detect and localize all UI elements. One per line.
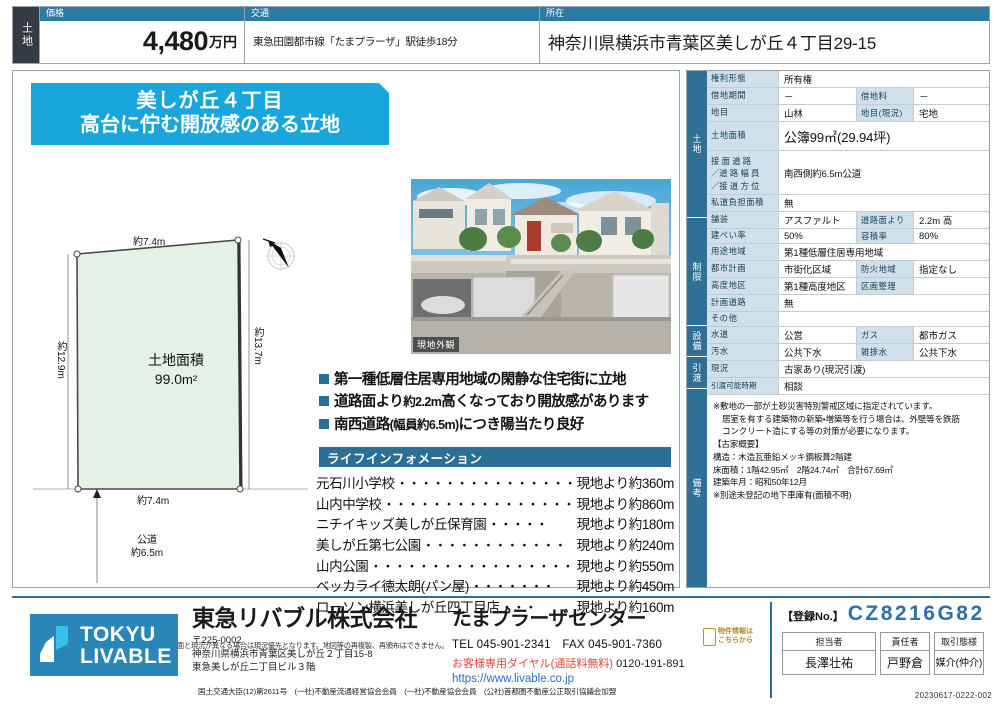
address-column: 所在 神奈川県横浜市青葉区美しが丘４丁目29-15: [539, 7, 989, 63]
spec-key-2: 防火地域: [856, 261, 914, 277]
staff-header: 取引態様: [935, 633, 983, 651]
land-plot-diagram: 約7.4m 約7.4m 約12.9m 約13.7m 土地面積 99.0m² 公道…: [33, 231, 313, 631]
life-info-distance: 現地より約180m: [577, 515, 674, 536]
life-info-dots: ・・・・・・・・・・・・・・・・・・・: [369, 557, 575, 577]
spec-key: 現況: [707, 361, 779, 377]
company-postal: 〒225-0002: [192, 634, 417, 647]
life-info-distance: 現地より約360m: [577, 474, 674, 495]
spec-key: 高度地区: [707, 278, 779, 294]
mobile-info-line-2: こちらから: [718, 637, 753, 646]
spec-key-2: 道路面より: [856, 212, 914, 228]
spec-key-2: 地目(現況): [856, 105, 914, 121]
life-info-distance: 現地より約450m: [577, 577, 674, 598]
spec-row-lease-period: 借地期間 － 借地料 －: [707, 88, 989, 105]
remark-line: 居室を有する建築物の新築・増築等を行う場合は、外壁等を鉄筋: [713, 413, 960, 426]
staff-header: 責任者: [881, 633, 929, 651]
spec-key-2: ガス: [856, 327, 914, 343]
feature-bullet: 第一種低層住居専用地域の閑静な住宅街に立地: [319, 369, 671, 391]
remark-line: ※別途未登記の地下車庫有(面積不明): [713, 489, 960, 502]
price-column: 価格 4,480 万円: [39, 7, 244, 63]
registration-box: 【登録No.】 CZ8216G82 担当者 長澤壮祐 責任者 戸野倉 取引態様 …: [770, 602, 988, 698]
spec-value-2: 公共下水: [914, 344, 989, 360]
public-road-width: 約6.5m: [117, 544, 177, 559]
spec-category-remarks: 備考: [687, 389, 707, 587]
life-info-item: ニチイキッズ美しが丘保育園 ・・・・・ 現地より約180m: [316, 515, 674, 536]
price-unit: 万円: [209, 32, 237, 52]
spec-category-delivery: 引渡: [687, 357, 707, 389]
document-id: 20230617-0222-002: [915, 691, 992, 700]
mobile-info-callout: 物件情報は こちらから: [703, 628, 753, 646]
life-info-name: 山内公園: [316, 557, 368, 578]
feature-bullet: 南西道路(幅員約6.5m)につき陽当たり良好: [319, 414, 671, 436]
staff-header: 担当者: [783, 633, 875, 651]
traffic-value: 東急田園都市線「たまプラーザ」駅徒歩18分: [245, 21, 539, 63]
spec-key: 用途地域: [707, 244, 779, 260]
spec-key: 土地面積: [707, 122, 779, 150]
spec-row-land-area: 土地面積 公簿99㎡(29.94坪): [707, 122, 989, 151]
registration-label: 【登録No.】: [782, 608, 844, 624]
bullet-square-icon: [319, 374, 329, 384]
plot-right-height-label: 約13.7m: [250, 327, 265, 365]
spec-key: 引渡可能時期: [707, 378, 779, 394]
spec-row-remarks: ※敷地の一部が土砂災害特別警戒区域に指定されています。 居室を有する建築物の新築…: [707, 395, 989, 587]
spec-row-delivery-date: 引渡可能時期 相談: [707, 378, 989, 395]
tokyu-livable-logo: TOKYU LIVABLE: [30, 614, 178, 676]
address-value: 神奈川県横浜市青葉区美しが丘４丁目29-15: [540, 21, 989, 63]
remark-line: 建築年月：昭和50年12月: [713, 476, 960, 489]
company-block: 東急リバブル株式会社 〒225-0002 神奈川県横浜市青葉区美しが丘２丁目15…: [192, 606, 417, 675]
staff-cell-manager: 責任者 戸野倉: [880, 632, 930, 675]
life-info-item: 山内公園 ・・・・・・・・・・・・・・・・・・・ 現地より約550m: [316, 557, 674, 578]
spec-row-sewage: 汚水 公共下水 雑排水 公共下水: [707, 344, 989, 361]
feature-bullet-list: 第一種低層住居専用地域の閑静な住宅街に立地 道路面より約2.2m高くなっており開…: [319, 369, 671, 436]
life-info-name: ニチイキッズ美しが丘保育園: [316, 515, 486, 536]
mobile-info-line-1: 物件情報は: [718, 628, 753, 637]
spec-rows: 権利形態 所有権 借地期間 － 借地料 － 地目 山林 地目(現況) 宅地 土地…: [707, 71, 989, 587]
bullet-square-icon: [319, 396, 329, 406]
staff-table: 担当者 長澤壮祐 責任者 戸野倉 取引態様 媒介(仲介): [782, 632, 988, 675]
company-address-line-1: 神奈川県横浜市青葉区美しが丘２丁目15-8: [192, 648, 417, 661]
website-url[interactable]: https://www.livable.co.jp: [452, 673, 685, 685]
spec-row-city-planning: 都市計画 市街化区域 防火地域 指定なし: [707, 261, 989, 278]
plot-area-value-wrap: 99.0m²: [111, 370, 241, 389]
spec-row-current-status: 現況 古家あり(現況引渡): [707, 361, 989, 378]
headline-line-1: 美しが丘４丁目: [137, 90, 284, 114]
property-type-tag: 土地: [13, 7, 39, 63]
registration-number-row: 【登録No.】 CZ8216G82: [782, 602, 988, 626]
spec-row-frontage-road: 接 面 道 路／道 路 幅 員／接 道 方 位 南西側約6.5m公道: [707, 151, 989, 195]
logo-line-2: LIVABLE: [80, 646, 172, 668]
life-info-name: ベッカライ徳太朗(パン屋): [316, 577, 469, 598]
remark-line: 床面積：1階42.95㎡ 2階24.74㎡ 合計67.69㎡: [713, 464, 960, 477]
specification-table: 土地 制限 設備 引渡 備考 権利形態 所有権 借地期間 － 借地料 － 地目 …: [686, 70, 990, 588]
legal-registration-text: 国土交通大臣(12)第2611号 (一社)不動産流通経営協会会員 (一社)不動産…: [198, 686, 616, 697]
spec-value: 無: [779, 295, 989, 311]
spec-value: 市街化区域: [779, 261, 856, 277]
spec-row-building-coverage: 建ぺい率 50% 容積率 80%: [707, 229, 989, 244]
freedial-label: お客様専用ダイヤル(通話料無料): [452, 658, 613, 670]
remark-line: ※敷地の一部が土砂災害特別警戒区域に指定されています。: [713, 400, 960, 413]
remark-line: 【古家概要】: [713, 438, 960, 451]
spec-key: 建ぺい率: [707, 229, 779, 243]
center-telephone: TEL 045-901-2341 FAX 045-901-7360: [452, 636, 685, 652]
company-address: 〒225-0002 神奈川県横浜市青葉区美しが丘２丁目15-8 東急美しが丘二丁…: [192, 634, 417, 674]
spec-row-private-road: 私道負担面積 無: [707, 195, 989, 212]
spec-key: 舗装: [707, 212, 779, 228]
spec-category-facilities: 設備: [687, 326, 707, 357]
spec-key: 地目: [707, 105, 779, 121]
spec-row-land-category: 地目 山林 地目(現況) 宅地: [707, 105, 989, 122]
exterior-photo: 現地外観: [411, 179, 671, 354]
mobile-info-text: 物件情報は こちらから: [718, 628, 753, 646]
traffic-column: 交通 東急田園都市線「たまプラーザ」駅徒歩18分: [244, 7, 539, 63]
spec-category-land: 土地: [687, 71, 707, 218]
spec-value-2: 都市ガス: [914, 327, 989, 343]
feature-bullet-text: 第一種低層住居専用地域の閑静な住宅街に立地: [334, 369, 626, 391]
company-name: 東急リバブル株式会社: [192, 606, 417, 631]
staff-value: 戸野倉: [881, 651, 929, 674]
life-info-dots: ・・・・・・・・・・・・: [422, 536, 576, 556]
life-info-name: 美しが丘第七公園: [316, 536, 421, 557]
life-info-dots: ・・・・・: [487, 515, 575, 535]
staff-cell-transaction-type: 取引態様 媒介(仲介): [934, 632, 984, 675]
price-label: 価格: [40, 7, 244, 21]
freedial-row: お客様専用ダイヤル(通話料無料) 0120-191-891: [452, 655, 685, 671]
spec-key: その他: [707, 312, 779, 326]
spec-key: 権利形態: [707, 71, 779, 87]
company-address-line-2: 東急美しが丘二丁目ビル３階: [192, 661, 417, 674]
spec-value: 第1種高度地区: [779, 278, 856, 294]
spec-value-2: －: [914, 88, 989, 104]
remarks-text: ※敷地の一部が土砂災害特別警戒区域に指定されています。 居室を有する建築物の新築…: [707, 395, 966, 587]
spec-key: 都市計画: [707, 261, 779, 277]
center-name: たまプラーザセンター: [452, 608, 685, 630]
photo-caption: 現地外観: [413, 337, 459, 352]
spec-value-2: 2.2m 高: [914, 212, 989, 228]
spec-key: 接 面 道 路／道 路 幅 員／接 道 方 位: [707, 151, 779, 194]
life-info-item: 美しが丘第七公園 ・・・・・・・・・・・・ 現地より約240m: [316, 536, 674, 557]
spec-value: 公共下水: [779, 344, 856, 360]
remark-line: 構造：木造瓦亜鉛メッキ鋼板葺2階建: [713, 451, 960, 464]
spec-value: 南西側約6.5m公道: [779, 151, 989, 194]
spec-key-2: 区画整理: [856, 278, 914, 294]
spec-key: 計画道路: [707, 295, 779, 311]
spec-category-sidebar: 土地 制限 設備 引渡 備考: [687, 71, 707, 587]
headline-line-2: 高台に佇む開放感のある立地: [80, 114, 340, 138]
spec-value-2: [914, 278, 989, 294]
header-bar: 土地 価格 4,480 万円 交通 東急田園都市線「たまプラーザ」駅徒歩18分 …: [12, 6, 990, 64]
spec-value: [779, 312, 989, 326]
spec-row-planned-road: 計画道路 無: [707, 295, 989, 312]
main-left-panel: 美しが丘４丁目 高台に佇む開放感のある立地: [12, 70, 680, 588]
staff-cell-agent: 担当者 長澤壮祐: [782, 632, 876, 675]
spec-value: 公簿99㎡(29.94坪): [779, 122, 989, 150]
spec-value-2: 80%: [914, 229, 989, 243]
spec-key: 借地期間: [707, 88, 779, 104]
center-block: たまプラーザセンター TEL 045-901-2341 FAX 045-901-…: [452, 608, 685, 685]
tokyu-logo-text: TOKYU LIVABLE: [80, 624, 172, 668]
freedial-number: 0120-191-891: [616, 658, 685, 670]
price-number: 4,480: [143, 28, 208, 55]
spec-value: 相談: [779, 378, 989, 394]
listing-sheet: 土地 価格 4,480 万円 交通 東急田園都市線「たまプラーザ」駅徒歩18分 …: [0, 0, 1002, 710]
price-value-wrap: 4,480 万円: [40, 21, 244, 63]
life-info-name: 元石川小学校: [316, 474, 395, 495]
spec-key: 水道: [707, 327, 779, 343]
spec-row-water: 水道 公営 ガス 都市ガス: [707, 327, 989, 344]
spec-value: 古家あり(現況引渡): [779, 361, 989, 377]
plot-shape-svg: [33, 231, 313, 631]
spec-row-pavement: 舗装 アスファルト 道路面より 2.2m 高: [707, 212, 989, 229]
spec-row-use-district: 用途地域 第1種低層住居専用地域: [707, 244, 989, 261]
traffic-label: 交通: [245, 7, 539, 21]
life-info-item: 元石川小学校 ・・・・・・・・・・・・・・・・ 現地より約360m: [316, 474, 674, 495]
spec-key: 私道負担面積: [707, 195, 779, 211]
spec-row-other: その他: [707, 312, 989, 327]
plot-area-text: 土地面積 99.0m²: [111, 351, 241, 389]
plot-area-label: 土地面積: [111, 351, 241, 370]
spec-value: 公営: [779, 327, 856, 343]
plot-area-unit: m²: [182, 372, 197, 387]
feature-bullet-text: 道路面より約2.2m高くなっており開放感があります: [334, 391, 649, 413]
address-label: 所在: [540, 7, 989, 21]
life-information-heading: ライフインフォメーション: [319, 447, 671, 467]
spec-value: 50%: [779, 229, 856, 243]
life-info-distance: 現地より約240m: [577, 536, 674, 557]
life-info-distance: 現地より約550m: [577, 557, 674, 578]
life-info-dots: ・・・・・・・: [470, 577, 576, 597]
spec-value: 第1種低層住居専用地域: [779, 244, 989, 260]
spec-key: 汚水: [707, 344, 779, 360]
life-info-item: 山内中学校 ・・・・・・・・・・・・・・・・・・ 現地より約860m: [316, 495, 674, 516]
spec-value: アスファルト: [779, 212, 856, 228]
spec-row-height-district: 高度地区 第1種高度地区 区画整理: [707, 278, 989, 295]
feature-bullet-text: 南西道路(幅員約6.5m)につき陽当たり良好: [334, 414, 584, 436]
staff-value: 媒介(仲介): [935, 651, 983, 672]
spec-key-2: 借地料: [856, 88, 914, 104]
plot-bottom-width-label: 約7.4m: [137, 492, 169, 507]
feature-bullet: 道路面より約2.2m高くなっており開放感があります: [319, 391, 671, 413]
plot-top-width-label: 約7.4m: [133, 233, 165, 248]
life-info-name: 山内中学校: [316, 495, 382, 516]
tokyu-logo-mark-icon: [38, 624, 74, 666]
spec-row-rights: 権利形態 所有権: [707, 71, 989, 88]
bullet-square-icon: [319, 419, 329, 429]
spec-key-2: 雑排水: [856, 344, 914, 360]
exterior-photo-image: [411, 179, 671, 354]
smartphone-icon: [703, 628, 716, 646]
spec-value: 所有権: [779, 71, 989, 87]
spec-value-2: 指定なし: [914, 261, 989, 277]
life-info-distance: 現地より約860m: [577, 495, 674, 516]
logo-line-1: TOKYU: [80, 624, 172, 646]
spec-key-2: 容積率: [856, 229, 914, 243]
plot-area-value: 99.0: [155, 371, 182, 387]
headline-ribbon: 美しが丘４丁目 高台に佇む開放感のある立地: [31, 83, 389, 145]
spec-value: －: [779, 88, 856, 104]
spec-value: 山林: [779, 105, 856, 121]
staff-value: 長澤壮祐: [783, 651, 875, 674]
life-info-dots: ・・・・・・・・・・・・・・・・・・: [383, 495, 576, 515]
life-info-item: ベッカライ徳太朗(パン屋) ・・・・・・・ 現地より約450m: [316, 577, 674, 598]
plot-left-height-label: 約12.9m: [53, 341, 68, 379]
remark-line: コンクリート造にする等の対策が必要になります。: [713, 425, 960, 438]
spec-value-2: 宅地: [914, 105, 989, 121]
spec-category-restrictions: 制限: [687, 218, 707, 326]
registration-number: CZ8216G82: [848, 602, 985, 626]
life-info-dots: ・・・・・・・・・・・・・・・・: [396, 474, 576, 494]
spec-value: 無: [779, 195, 989, 211]
property-type-label: 土地: [21, 22, 32, 48]
